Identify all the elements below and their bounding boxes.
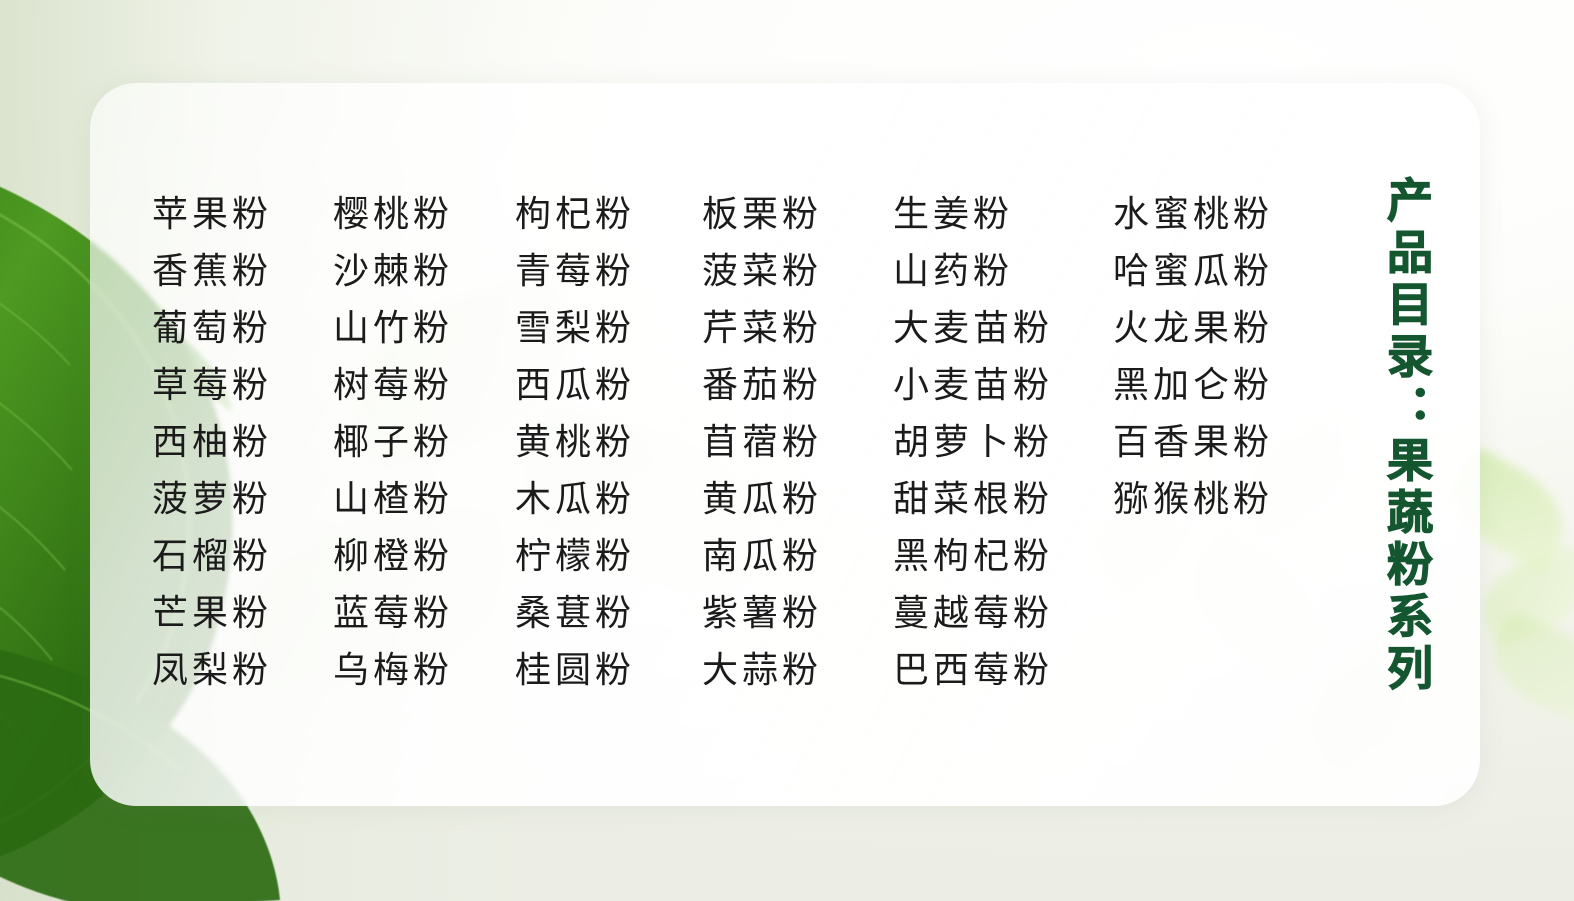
product-item[interactable]: 番茄粉: [702, 357, 893, 414]
product-item[interactable]: 黄瓜粉: [702, 471, 893, 528]
product-item[interactable]: 沙棘粉: [333, 243, 515, 300]
product-item[interactable]: 西柚粉: [152, 414, 333, 471]
catalog-column-3: 枸杞粉 青莓粉 雪梨粉 西瓜粉 黄桃粉 木瓜粉 柠檬粉 桑葚粉 桂圆粉: [515, 186, 702, 699]
product-item[interactable]: 凤梨粉: [152, 642, 333, 699]
product-item[interactable]: 火龙果粉: [1113, 300, 1333, 357]
product-item[interactable]: 山竹粉: [333, 300, 515, 357]
product-item[interactable]: 山药粉: [893, 243, 1113, 300]
product-item[interactable]: 板栗粉: [702, 186, 893, 243]
product-item[interactable]: 石榴粉: [152, 528, 333, 585]
product-item[interactable]: 木瓜粉: [515, 471, 702, 528]
product-item[interactable]: 乌梅粉: [333, 642, 515, 699]
product-catalog-grid: 苹果粉 香蕉粉 葡萄粉 草莓粉 西柚粉 菠萝粉 石榴粉 芒果粉 凤梨粉 樱桃粉 …: [152, 186, 1333, 699]
product-item[interactable]: 菠菜粉: [702, 243, 893, 300]
catalog-column-4: 板栗粉 菠菜粉 芹菜粉 番茄粉 苜蓿粉 黄瓜粉 南瓜粉 紫薯粉 大蒜粉: [702, 186, 893, 699]
catalog-column-2: 樱桃粉 沙棘粉 山竹粉 树莓粉 椰子粉 山楂粉 柳橙粉 蓝莓粉 乌梅粉: [333, 186, 515, 699]
page-title: 产品目录：果蔬粉系列: [1362, 176, 1434, 696]
product-item[interactable]: 桂圆粉: [515, 642, 702, 699]
product-item[interactable]: 巴西莓粉: [893, 642, 1113, 699]
poster-stage: 苹果粉 香蕉粉 葡萄粉 草莓粉 西柚粉 菠萝粉 石榴粉 芒果粉 凤梨粉 樱桃粉 …: [0, 0, 1574, 901]
product-item[interactable]: 蔓越莓粉: [893, 585, 1113, 642]
product-item[interactable]: 黑枸杞粉: [893, 528, 1113, 585]
product-item[interactable]: 青莓粉: [515, 243, 702, 300]
product-item[interactable]: 雪梨粉: [515, 300, 702, 357]
product-item[interactable]: 草莓粉: [152, 357, 333, 414]
product-item[interactable]: 南瓜粉: [702, 528, 893, 585]
product-item[interactable]: 黑加仑粉: [1113, 357, 1333, 414]
product-item[interactable]: 芒果粉: [152, 585, 333, 642]
product-item[interactable]: 哈蜜瓜粉: [1113, 243, 1333, 300]
product-item[interactable]: 苹果粉: [152, 186, 333, 243]
product-item[interactable]: 胡萝卜粉: [893, 414, 1113, 471]
product-item[interactable]: 蓝莓粉: [333, 585, 515, 642]
product-item[interactable]: 菠萝粉: [152, 471, 333, 528]
product-item[interactable]: 椰子粉: [333, 414, 515, 471]
product-item[interactable]: 大麦苗粉: [893, 300, 1113, 357]
catalog-column-1: 苹果粉 香蕉粉 葡萄粉 草莓粉 西柚粉 菠萝粉 石榴粉 芒果粉 凤梨粉: [152, 186, 333, 699]
product-item[interactable]: 香蕉粉: [152, 243, 333, 300]
product-item[interactable]: 葡萄粉: [152, 300, 333, 357]
product-item[interactable]: 黄桃粉: [515, 414, 702, 471]
product-item[interactable]: 柠檬粉: [515, 528, 702, 585]
product-item[interactable]: 大蒜粉: [702, 642, 893, 699]
product-item[interactable]: 西瓜粉: [515, 357, 702, 414]
catalog-column-5: 生姜粉 山药粉 大麦苗粉 小麦苗粉 胡萝卜粉 甜菜根粉 黑枸杞粉 蔓越莓粉 巴西…: [893, 186, 1113, 699]
product-item[interactable]: 水蜜桃粉: [1113, 186, 1333, 243]
catalog-column-6: 水蜜桃粉 哈蜜瓜粉 火龙果粉 黑加仑粉 百香果粉 猕猴桃粉: [1113, 186, 1333, 528]
product-item[interactable]: 树莓粉: [333, 357, 515, 414]
product-item[interactable]: 柳橙粉: [333, 528, 515, 585]
product-item[interactable]: 紫薯粉: [702, 585, 893, 642]
product-item[interactable]: 芹菜粉: [702, 300, 893, 357]
product-item[interactable]: 桑葚粉: [515, 585, 702, 642]
product-item[interactable]: 枸杞粉: [515, 186, 702, 243]
product-item[interactable]: 猕猴桃粉: [1113, 471, 1333, 528]
product-item[interactable]: 山楂粉: [333, 471, 515, 528]
product-item[interactable]: 生姜粉: [893, 186, 1113, 243]
product-item[interactable]: 小麦苗粉: [893, 357, 1113, 414]
product-item[interactable]: 百香果粉: [1113, 414, 1333, 471]
product-item[interactable]: 樱桃粉: [333, 186, 515, 243]
product-item[interactable]: 甜菜根粉: [893, 471, 1113, 528]
product-item[interactable]: 苜蓿粉: [702, 414, 893, 471]
